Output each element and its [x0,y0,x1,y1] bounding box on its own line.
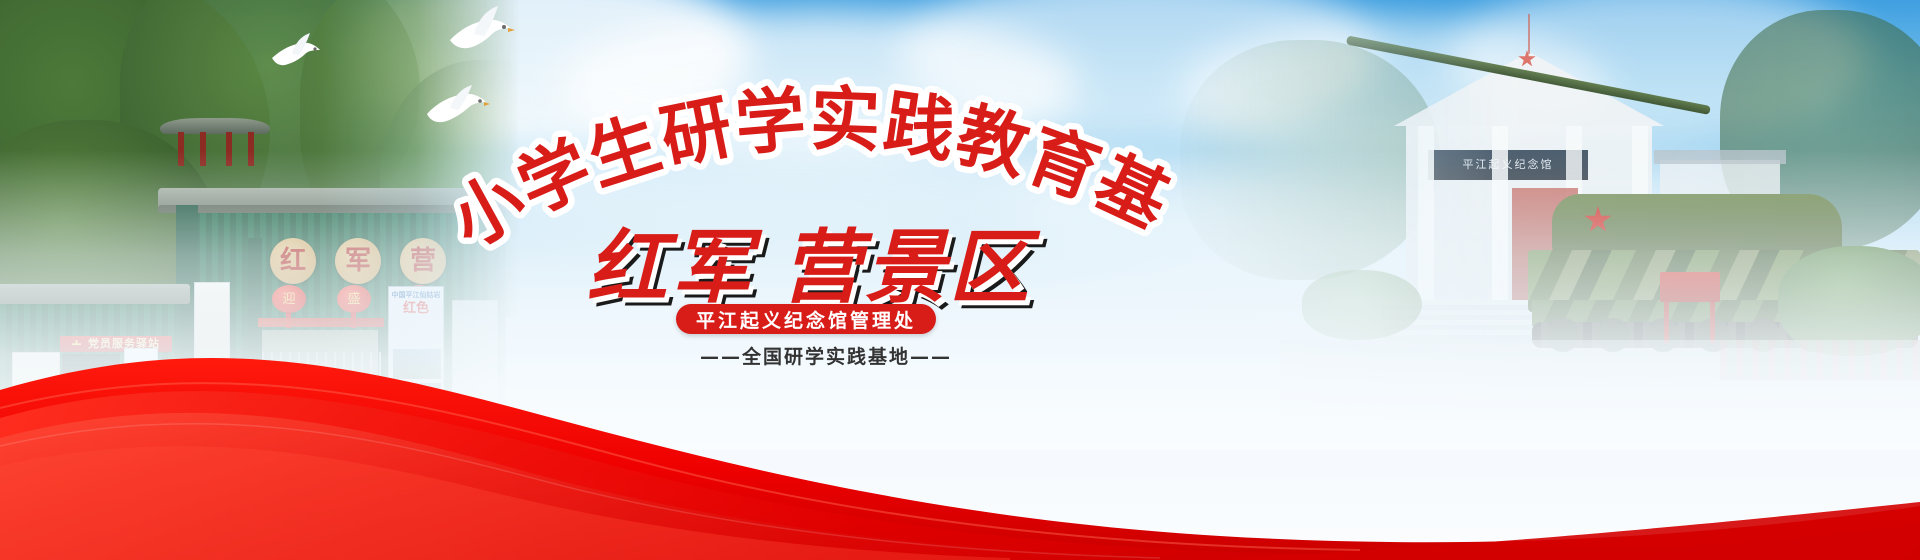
red-silk-wave [0,270,1920,560]
scenic-area-banner: 红 军 营 迎 盛 财 党员服务驿站 仙姑岩·红军营 [0,0,1920,560]
